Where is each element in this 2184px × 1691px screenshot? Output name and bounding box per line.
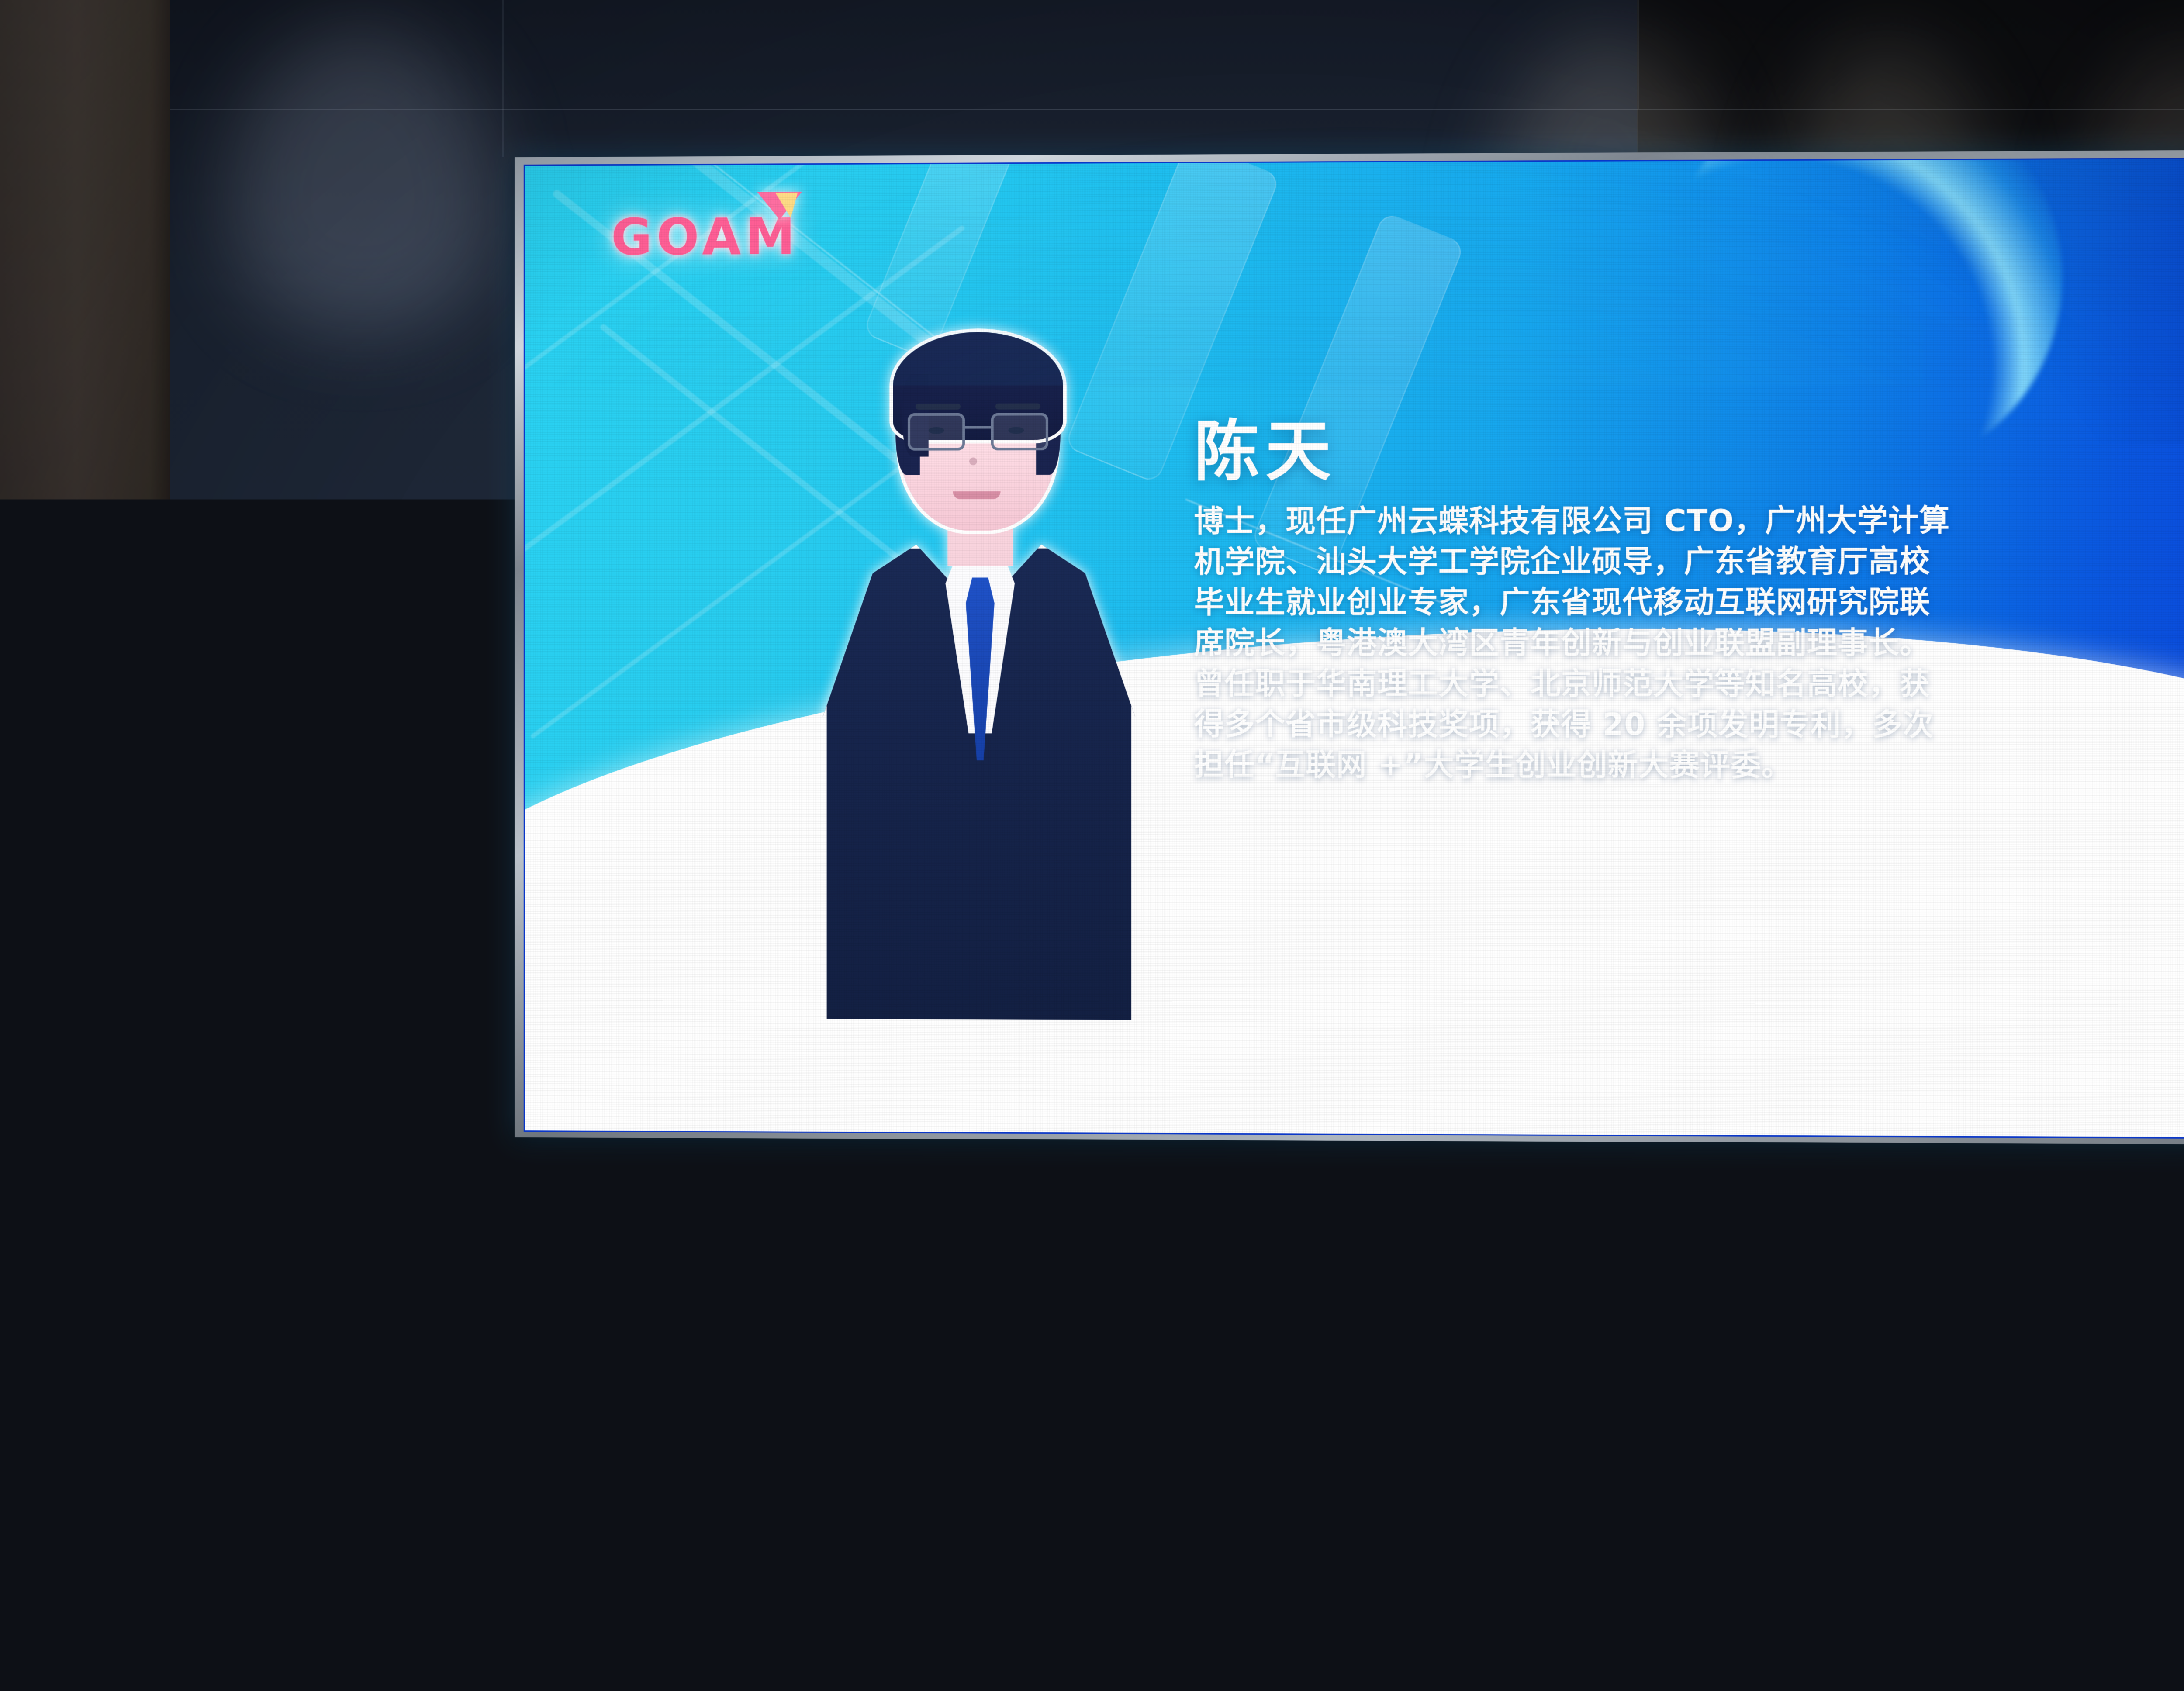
speaker-eyebrow bbox=[297, 1082, 329, 1087]
podium-band bbox=[209, 1393, 411, 1419]
bio-line: 得多个省市级科技奖项，获得 20 余项发明专利，多次 bbox=[1194, 704, 2098, 746]
portrait-nose bbox=[969, 457, 977, 465]
portrait-eye bbox=[1008, 427, 1024, 434]
screen-speaker-name: 陈天 bbox=[1194, 398, 1337, 493]
speaker-portrait-photo bbox=[823, 317, 1135, 1024]
banner-title: AI赋能·智启新程 bbox=[217, 1463, 404, 1494]
speaker-eyebrow bbox=[249, 1082, 281, 1087]
power-outlet bbox=[1350, 1352, 1368, 1380]
speaker-eye bbox=[307, 1099, 318, 1104]
bio-line: 毕业生就业创业专家，广东省现代移动互联网研究院联 bbox=[1194, 582, 2098, 623]
screenshot-root: GOAM bbox=[0, 0, 2184, 1691]
banner-date: 2025年5月28日 bbox=[217, 1541, 404, 1554]
podium-base bbox=[201, 1557, 419, 1605]
bio-line: 博士，现任广州云蝶科技有限公司 CTO，广州大学计算 bbox=[1194, 500, 2098, 542]
portrait-mouth bbox=[953, 491, 1000, 499]
speaker-eye bbox=[255, 1099, 266, 1104]
goam-checkmark-icon bbox=[757, 192, 802, 220]
bio-line: 曾任职于华南理工大学、北京师范大学等知名高校，获 bbox=[1194, 664, 2098, 705]
wall-vertical-seam bbox=[502, 0, 504, 157]
portrait-eyebrow bbox=[995, 403, 1040, 409]
screen-speaker-bio: 博士，现任广州云蝶科技有限公司 CTO，广州大学计算 机学院、汕头大学工学院企业… bbox=[1194, 500, 2098, 787]
speaker-person bbox=[166, 1004, 411, 1275]
bio-line: 机学院、汕头大学工学院企业硕导，广东省教育厅高校 bbox=[1194, 541, 2098, 583]
led-screen: GOAM bbox=[525, 159, 2184, 1137]
portrait-eye bbox=[929, 427, 944, 434]
goam-logo: GOAM bbox=[611, 212, 799, 263]
wall-seam-upper bbox=[170, 109, 2184, 110]
podium-banner: AI赋能·智启新程 2025人工智能应用场景大赛 2025年5月28日 bbox=[217, 1416, 404, 1560]
led-screen-frame: GOAM bbox=[515, 150, 2184, 1144]
bio-line: 席院长，粤港澳大湾区青年创新与创业联盟副理事长。 bbox=[1194, 623, 2098, 664]
bio-line: 担任“互联网 +”大学生创业创新大赛评委。 bbox=[1194, 745, 2098, 787]
banner-subtitle: 2025人工智能应用场景大赛 bbox=[217, 1493, 404, 1512]
wall-vertical-seam bbox=[1638, 0, 1639, 109]
speaker-mouth bbox=[273, 1134, 307, 1147]
portrait-eyebrow bbox=[916, 404, 961, 410]
